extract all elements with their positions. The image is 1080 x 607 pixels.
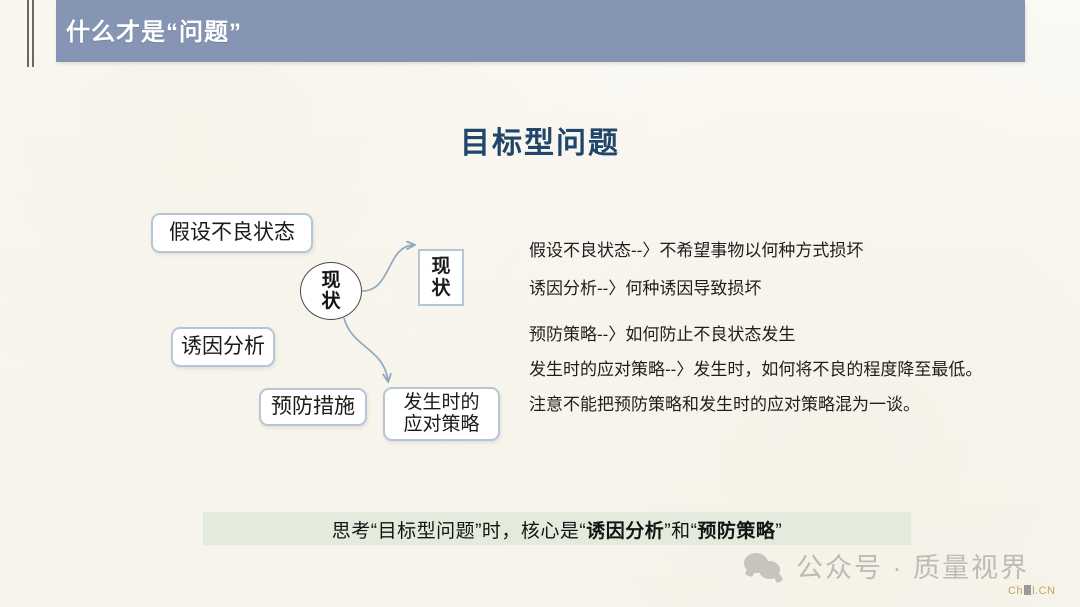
summary-suffix: ” [775, 521, 782, 542]
node-response-strategy[interactable]: 发生时的 应对策略 [383, 387, 500, 441]
node-cause-analysis[interactable]: 诱因分析 [171, 327, 275, 367]
summary-middle: ”和“ [664, 521, 697, 542]
watermark: 公众号 · 质量视界 [744, 546, 1029, 585]
wechat-icon-tail-small [774, 573, 783, 582]
explanation-group-2: 预防策略--〉如何防止不良状态发生 发生时的应对策略--〉发生时，如何将不良的程… [529, 320, 999, 415]
arrow-center-to-state [362, 245, 414, 291]
node-current-state-ellipse[interactable]: 现 状 [300, 262, 362, 320]
arrow-center-to-response [344, 318, 388, 381]
explanation-group-1: 假设不良状态--〉不希望事物以何种方式损坏 诱因分析--〉何种诱因导致损坏 [529, 236, 999, 299]
node-prevention-measure[interactable]: 预防措施 [259, 388, 367, 426]
wechat-icon [744, 551, 786, 581]
watermark-text: 公众号 · 质量视界 [796, 546, 1029, 585]
corner-logo: Chl.CN [1008, 585, 1055, 597]
explanation-line: 诱因分析--〉何种诱因导致损坏 [529, 274, 999, 299]
summary-emphasis-1: 诱因分析 [586, 521, 664, 542]
explanation-line: 预防策略--〉如何防止不良状态发生 [529, 320, 999, 345]
explanation-line: 注意不能把预防策略和发生时的应对策略混为一谈。 [529, 390, 999, 415]
summary-emphasis-2: 预防策略 [697, 521, 775, 542]
header-bar: 什么才是“问题” [56, 0, 1025, 62]
corner-logo-mark [1024, 585, 1031, 595]
summary-banner-text: 思考“目标型问题”时，核心是“诱因分析”和“预防策略” [203, 516, 911, 543]
page-title: 目标型问题 [0, 118, 1080, 162]
slide-canvas: 什么才是“问题” 目标型问题 假设不良状态 诱因分析 预防措施 发生时的 应对策… [0, 0, 1080, 607]
corner-logo-prefix: Ch [1008, 585, 1023, 597]
summary-prefix: 思考“目标型问题”时，核心是“ [332, 521, 586, 542]
explanation-text: 假设不良状态--〉不希望事物以何种方式损坏 诱因分析--〉何种诱因导致损坏 预防… [529, 236, 999, 425]
explanation-line: 发生时的应对策略--〉发生时，如何将不良的程度降至最低。 [529, 355, 999, 380]
corner-logo-suffix: l.CN [1032, 585, 1055, 597]
header-rule-decoration [27, 0, 35, 67]
node-hypothesis[interactable]: 假设不良状态 [151, 213, 313, 253]
header-rule-line-1 [27, 0, 29, 67]
header-rule-line-2 [32, 0, 34, 67]
node-current-state-box[interactable]: 现 状 [418, 249, 464, 306]
explanation-line: 假设不良状态--〉不希望事物以何种方式损坏 [529, 236, 999, 261]
header-title: 什么才是“问题” [66, 12, 242, 47]
